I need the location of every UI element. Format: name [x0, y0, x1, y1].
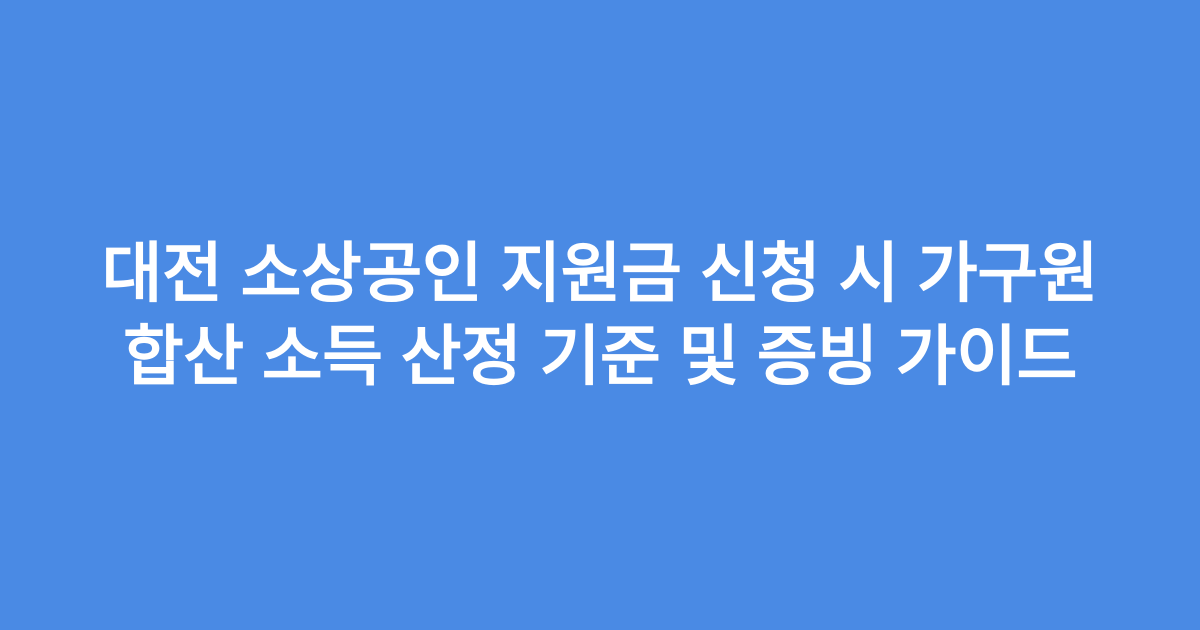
headline-container: 대전 소상공인 지원금 신청 시 가구원 합산 소득 산정 기준 및 증빙 가이… [0, 232, 1200, 398]
page-title: 대전 소상공인 지원금 신청 시 가구원 합산 소득 산정 기준 및 증빙 가이… [56, 232, 1144, 398]
social-share-card: 대전 소상공인 지원금 신청 시 가구원 합산 소득 산정 기준 및 증빙 가이… [0, 0, 1200, 630]
